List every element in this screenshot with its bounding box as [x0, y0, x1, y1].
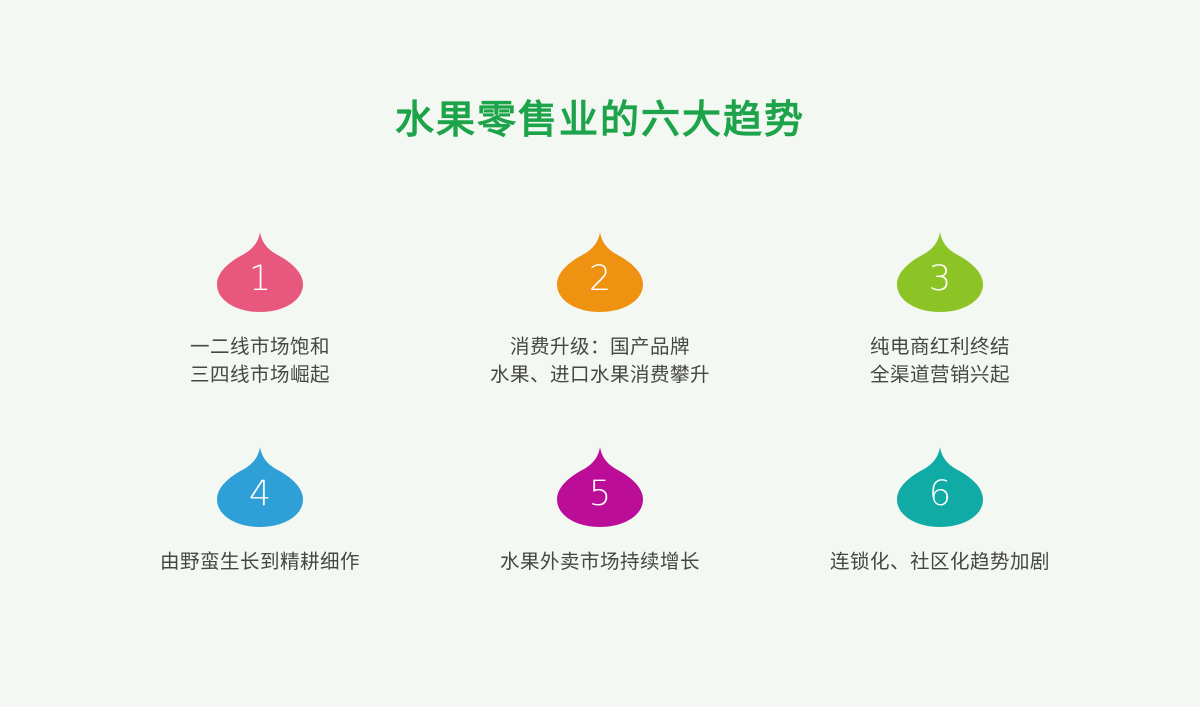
trend-caption-line: 消费升级：国产品牌 [490, 333, 710, 361]
trend-caption-line: 三四线市场崛起 [190, 361, 330, 389]
trend-item-2[interactable]: 2 消费升级：国产品牌水果、进口水果消费攀升 [430, 232, 770, 447]
peach-badge-icon: 4 [217, 447, 303, 527]
trend-caption-line: 水果、进口水果消费攀升 [490, 361, 710, 389]
page-title: 水果零售业的六大趋势 [0, 97, 1200, 145]
trend-caption: 消费升级：国产品牌水果、进口水果消费攀升 [490, 333, 710, 389]
trend-item-5[interactable]: 5 水果外卖市场持续增长 [430, 447, 770, 662]
peach-badge-icon: 6 [897, 447, 983, 527]
trend-caption-line: 由野蛮生长到精耕细作 [160, 548, 360, 576]
badge-number: 2 [557, 232, 643, 312]
peach-badge-icon: 2 [557, 232, 643, 312]
trend-grid: 1 一二线市场饱和三四线市场崛起 2 消费升级：国产品牌水果、进口水果消费攀升 … [90, 232, 1110, 662]
trend-caption-line: 纯电商红利终结 [870, 333, 1010, 361]
trend-caption: 水果外卖市场持续增长 [500, 548, 700, 576]
peach-badge-icon: 5 [557, 447, 643, 527]
trend-item-6[interactable]: 6 连锁化、社区化趋势加剧 [770, 447, 1110, 662]
infographic-root: 水果零售业的六大趋势 1 一二线市场饱和三四线市场崛起 2 消费升级：国产品牌水… [0, 0, 1200, 707]
trend-item-1[interactable]: 1 一二线市场饱和三四线市场崛起 [90, 232, 430, 447]
trend-item-3[interactable]: 3 纯电商红利终结全渠道营销兴起 [770, 232, 1110, 447]
badge-number: 4 [217, 447, 303, 527]
trend-caption: 纯电商红利终结全渠道营销兴起 [870, 333, 1010, 389]
trend-caption-line: 一二线市场饱和 [190, 333, 330, 361]
trend-caption-line: 全渠道营销兴起 [870, 361, 1010, 389]
badge-number: 1 [217, 232, 303, 312]
badge-number: 3 [897, 232, 983, 312]
trend-caption: 由野蛮生长到精耕细作 [160, 548, 360, 576]
peach-badge-icon: 1 [217, 232, 303, 312]
trend-caption: 一二线市场饱和三四线市场崛起 [190, 333, 330, 389]
trend-caption: 连锁化、社区化趋势加剧 [830, 548, 1050, 576]
trend-item-4[interactable]: 4 由野蛮生长到精耕细作 [90, 447, 430, 662]
badge-number: 5 [557, 447, 643, 527]
trend-caption-line: 水果外卖市场持续增长 [500, 548, 700, 576]
badge-number: 6 [897, 447, 983, 527]
peach-badge-icon: 3 [897, 232, 983, 312]
trend-caption-line: 连锁化、社区化趋势加剧 [830, 548, 1050, 576]
